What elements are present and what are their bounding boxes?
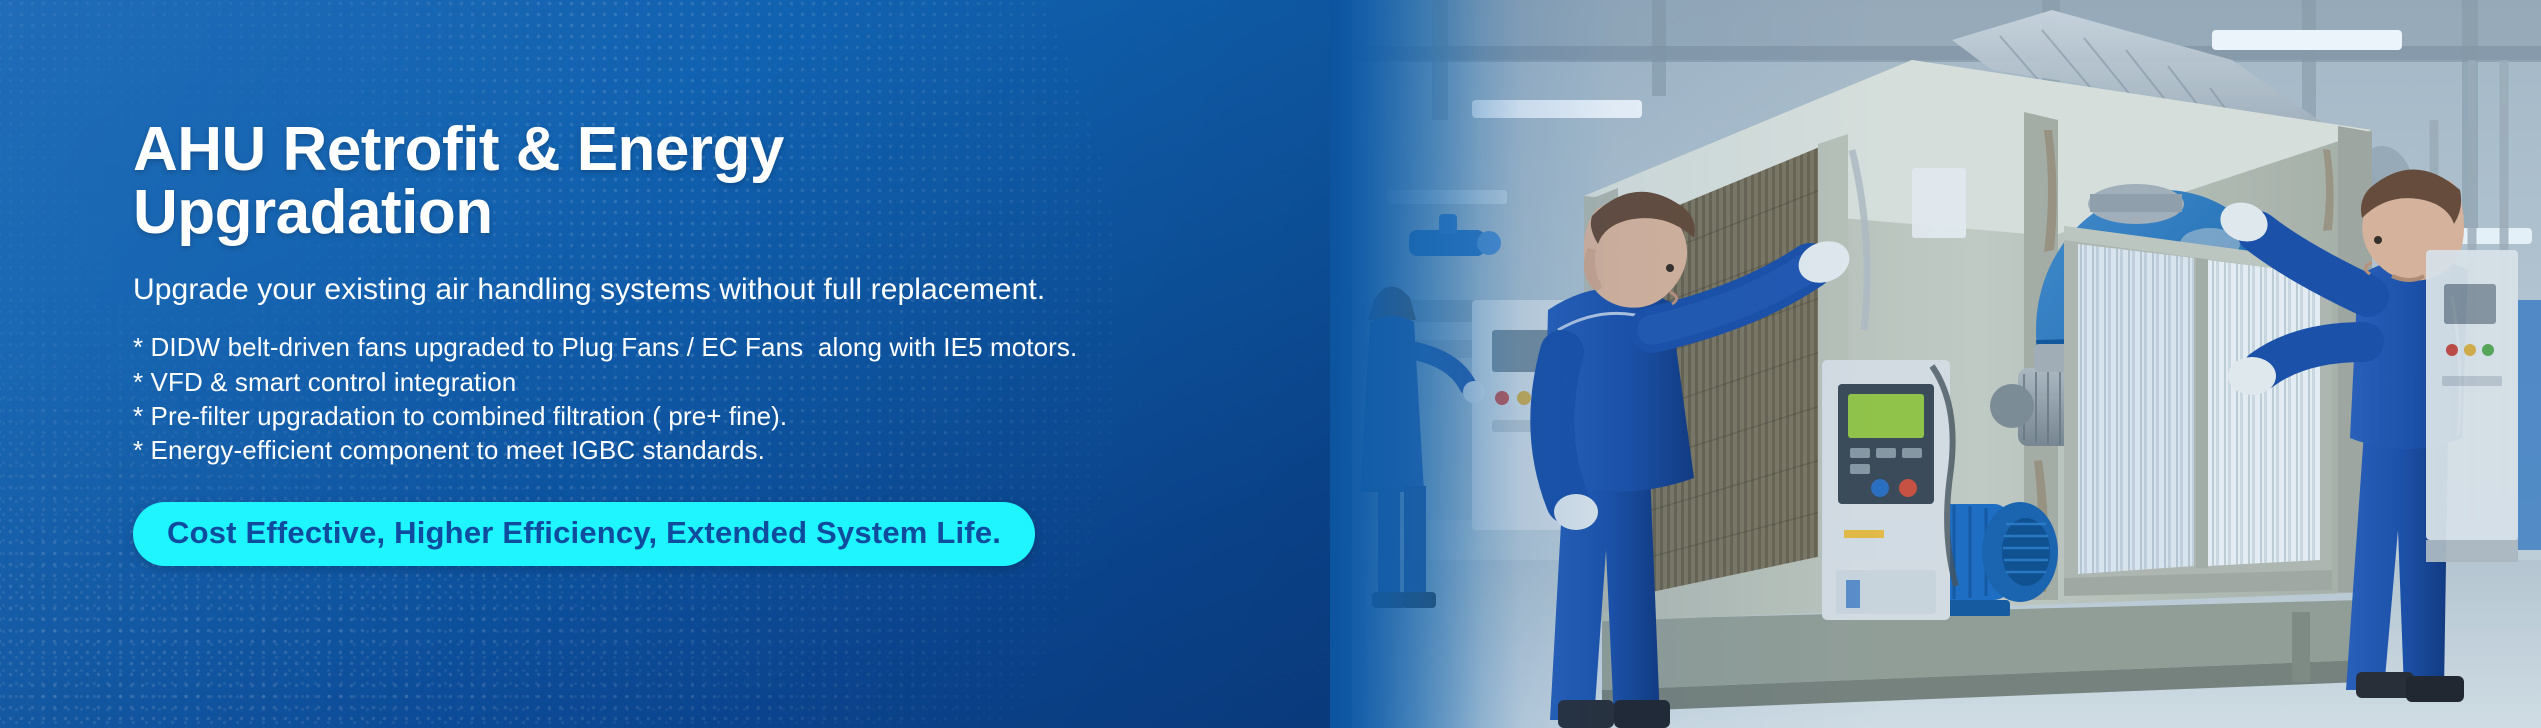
ahu-photo-illustration xyxy=(1352,0,2541,728)
cta-badge[interactable]: Cost Effective, Higher Efficiency, Exten… xyxy=(133,502,1035,566)
subtitle: Upgrade your existing air handling syste… xyxy=(133,272,1313,308)
list-item: * Pre-filter upgradation to combined fil… xyxy=(133,399,1313,433)
list-item: * Energy-efficient component to meet IGB… xyxy=(133,433,1313,467)
promo-banner: AHU Retrofit & Energy Upgradation Upgrad… xyxy=(0,0,2541,728)
page-title: AHU Retrofit & Energy Upgradation xyxy=(133,118,893,244)
cta-container: Cost Effective, Higher Efficiency, Exten… xyxy=(133,502,1313,566)
list-item: * VFD & smart control integration xyxy=(133,365,1313,399)
feature-list: * DIDW belt-driven fans upgraded to Plug… xyxy=(133,330,1313,467)
list-item: * DIDW belt-driven fans upgraded to Plug… xyxy=(133,330,1313,364)
left-text-panel: AHU Retrofit & Energy Upgradation Upgrad… xyxy=(0,0,1390,728)
text-content: AHU Retrofit & Energy Upgradation Upgrad… xyxy=(133,118,1313,566)
ahu-photo xyxy=(1352,0,2541,728)
